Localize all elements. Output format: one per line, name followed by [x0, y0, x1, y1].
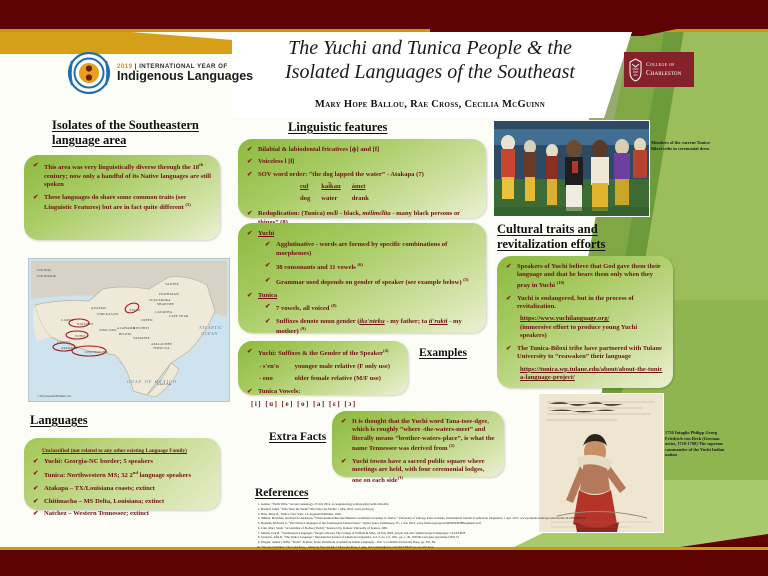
examples-list: Yuchi: Suffixes & the Gender of the Spea… [247, 348, 399, 409]
yuchi-language-link-block: https://www.yuchilanguage.org/ (immersiv… [520, 315, 664, 340]
section-heading-isolates: Isolates of the Southeastern language ar… [52, 118, 227, 148]
svg-text:POWHATAN: POWHATAN [159, 292, 179, 296]
gloss-table: cul kai̋kau ámɛt dog water drank [298, 181, 380, 206]
cultural-traits-box: Speakers of Yuchi believe that God gave … [497, 256, 673, 388]
list-item: Natchez – Western Tennessee; extinct [33, 510, 211, 518]
yuchi-sublist: Agglutinative - words are formed by spec… [265, 241, 477, 287]
page-title-line1: The Yuchi and Tunica People & the [244, 36, 616, 60]
language-detail-list: Yuchi Agglutinative - words are formed b… [247, 230, 477, 337]
list-item: This area was very linguistically divers… [33, 162, 211, 190]
table-row: dog water drank [300, 195, 378, 204]
tunica-biloxi-powwow-photo [493, 120, 650, 217]
southeastern-tribes-map: GULF OF MEXICO ATLANTIC OCEAN CADDOCADDO… [28, 258, 230, 402]
cofc-wordmark: College of Charleston [646, 62, 681, 77]
list-item: Yuchi towns have a sacred public square … [341, 458, 495, 486]
references-block: Genius. “Yuchi Tribe.” Access Genealogy,… [252, 502, 732, 550]
list-item: The Tunica-Biloxi tribe have partnered w… [506, 345, 664, 362]
gloss-cell: kai̋kau [321, 183, 349, 192]
list-item: Voiceless l [ɬ] [247, 158, 477, 166]
list-item: Yuchi Agglutinative - words are formed b… [247, 230, 477, 288]
gloss-cell: drank [352, 195, 378, 204]
list-item: It is thought that the Yuchi word Tana-t… [341, 418, 495, 454]
example-row: - eno older female relative (M/F use) [247, 375, 399, 383]
powwow-photo-caption: Members of the current Tunica-Biloxi tri… [651, 140, 711, 151]
linguistic-upper-list: Bilabial & labiodental fricatives [ɸ] an… [247, 146, 477, 227]
list-item: These languages do share some common tra… [33, 194, 211, 213]
college-of-charleston-logo: College of Charleston [624, 52, 694, 87]
list-item: 38 consonants and 11 vowels (6) [265, 262, 477, 273]
engraving-caption: 1736 Intaglio Philipp Georg Friedrich vo… [665, 430, 731, 458]
extra-facts-box: It is thought that the Yuchi word Tana-t… [332, 411, 504, 477]
isolates-box: This area was very linguistically divers… [24, 155, 220, 240]
svg-text:BILOXI: BILOXI [119, 332, 131, 336]
redup-italic-1: mɛ̋li [327, 210, 339, 217]
authors: Mary Hope Ballou, Rae Cross, Cecilia McG… [244, 99, 616, 110]
list-item: Tunica: Northwestern MS; 32 2nd language… [33, 470, 211, 481]
page-title-line2: Isolated Languages of the Southeast [244, 60, 616, 84]
cofc-line1: College of [646, 62, 681, 69]
iyil-logo: 2019 | INTERNATIONAL YEAR OF Indigenous … [68, 52, 253, 94]
gloss-cell: dog [300, 195, 319, 204]
svg-text:ATLANTIC: ATLANTIC [198, 325, 223, 330]
linguistic-features-box-upper: Bilabial & labiodental fricatives [ɸ] an… [238, 139, 486, 218]
tunica-label: Tunica [258, 292, 277, 299]
svg-text:SANTEE: SANTEE [165, 282, 179, 286]
svg-text:CHOCTAW: CHOCTAW [99, 328, 117, 332]
example-row: - s'en'o younger male relative (F only u… [247, 363, 399, 371]
iyil-wordmark: 2019 | INTERNATIONAL YEAR OF Indigenous … [117, 63, 253, 84]
bottom-maroon-band [0, 550, 768, 576]
list-item: Tunica 7 vowels, all voiced (8) Suffixes… [247, 292, 477, 337]
section-heading-extra-facts: Extra Facts [269, 431, 326, 445]
svg-text:NATCHEZ: NATCHEZ [77, 322, 93, 326]
svg-text:CREEK: CREEK [141, 318, 153, 322]
extra-facts-list: It is thought that the Yuchi word Tana-t… [341, 418, 495, 485]
section-heading-cultural-traits: Cultural traits and revitalization effor… [497, 222, 657, 252]
svg-text:OCEAN: OCEAN [201, 331, 218, 336]
svg-text:© Encyclopaedia Britannica, In: © Encyclopaedia Britannica, Inc. [37, 395, 72, 398]
references-list: Genius. “Yuchi Tribe.” Access Genealogy,… [252, 502, 732, 550]
svg-text:TUNICA: TUNICA [75, 334, 89, 338]
list-item: Agglutinative - words are formed by spec… [265, 241, 477, 258]
table-row: cul kai̋kau ámɛt [300, 183, 378, 192]
tunica-project-link[interactable]: https://tunica.wp.tulane.edu/about/about… [520, 366, 662, 381]
svg-text:HITCHITI: HITCHITI [133, 326, 149, 330]
svg-text:TUSCARORA: TUSCARORA [149, 298, 171, 302]
section-heading-references: References [255, 487, 308, 501]
list-item: Speakers of Yuchi believe that God gave … [506, 263, 664, 291]
linguistic-features-box-lower: Yuchi Agglutinative - words are formed b… [238, 223, 486, 333]
languages-subheading: Unclassified (not related to any other e… [42, 448, 211, 454]
list-item: Grammar used depends on gender of speake… [265, 277, 477, 288]
example-gloss: younger male relative (F only use) [295, 363, 390, 370]
list-item: SOV word order: “the dog lapped the wate… [247, 171, 477, 206]
example-suffix: - s'en'o [259, 363, 293, 371]
example-suffix: - eno [259, 375, 293, 383]
redup-pre: Reduplication: (Tunica) [258, 210, 327, 217]
cultural-traits-list: Speakers of Yuchi believe that God gave … [506, 263, 664, 382]
gloss-cell: water [321, 195, 349, 204]
reference-item: “We Are Still Here: The Land Press – Mad… [261, 545, 732, 550]
list-item: Atakapa – TX/Louisiana coasts; extinct [33, 485, 211, 493]
list-item: Suffixes denote noun gender (ikə'nteku -… [265, 318, 477, 337]
svg-text:YAMASEE: YAMASEE [133, 336, 150, 340]
iyil-emblem-icon [68, 52, 110, 94]
gloss-cell: cul [300, 183, 319, 192]
section-heading-linguistic-features: Linguistic features [288, 120, 387, 135]
list-item: 7 vowels, all voiced (8) [265, 303, 477, 314]
yuchi-language-link-note: (immersive effort to produce young Yuchi… [520, 324, 637, 339]
tunica-vowel-row: [i] [u] [e] [o] [a] [ɛ] [ɔ] [251, 400, 399, 409]
section-heading-languages: Languages [30, 413, 88, 428]
poster-canvas: The Yuchi and Tunica People & the Isolat… [0, 0, 768, 576]
list-item: Yuchi is endangered, but in the process … [506, 295, 664, 312]
iyil-title: Indigenous Languages [117, 70, 253, 84]
page-title: The Yuchi and Tunica People & the Isolat… [244, 36, 616, 85]
svg-text:APALACHEE: APALACHEE [151, 342, 172, 346]
examples-box: Yuchi: Suffixes & the Gender of the Spea… [238, 341, 408, 395]
svg-text:CALUSA: CALUSA [157, 382, 172, 386]
languages-box: Unclassified (not related to any other e… [24, 438, 220, 510]
gloss-cell: ámɛt [352, 183, 378, 192]
svg-text:QUAPAW: QUAPAW [91, 306, 107, 310]
svg-text:0 150 300 450 km: 0 150 300 450 km [37, 275, 56, 278]
svg-text:SHAWNEE: SHAWNEE [157, 302, 174, 306]
example-gloss: older female relative (M/F use) [295, 375, 381, 382]
yuchi-language-link[interactable]: https://www.yuchilanguage.org/ [520, 315, 609, 322]
yuchi-label: Yuchi [258, 230, 274, 237]
section-heading-examples: Examples [419, 347, 467, 361]
redup-italic-2: mélimɛ̋lita [362, 210, 390, 217]
list-item: Tunica Vowels: [247, 388, 399, 396]
svg-text:TIMUCUA: TIMUCUA [153, 346, 170, 350]
languages-list: Yuchi: Georgia-NC border; 5 speakers Tun… [33, 458, 211, 518]
list-item: Bilabial & labiodental fricatives [ɸ] an… [247, 146, 477, 154]
tunica-sublist: 7 vowels, all voiced (8) Suffixes denote… [265, 303, 477, 337]
isolates-list: This area was very linguistically divers… [33, 162, 211, 213]
svg-text:CHICKASAW: CHICKASAW [97, 312, 119, 316]
svg-text:0 150 300 mi: 0 150 300 mi [37, 269, 51, 272]
cofc-crest-icon [628, 58, 643, 82]
tunica-project-link-block: https://tunica.wp.tulane.edu/about/about… [520, 366, 664, 383]
list-item: Yuchi: Georgia-NC border; 5 speakers [33, 458, 211, 466]
list-item: Chitimacha – MS Delta, Louisiana; extinc… [33, 498, 211, 506]
sov-text: SOV word order: “the dog lapped the wate… [258, 171, 424, 178]
svg-text:CAPE FEAR: CAPE FEAR [169, 314, 189, 318]
cofc-line2: Charleston [646, 69, 681, 77]
redup-mid: - black, [338, 210, 362, 217]
list-item: Yuchi: Suffixes & the Gender of the Spea… [247, 348, 399, 359]
